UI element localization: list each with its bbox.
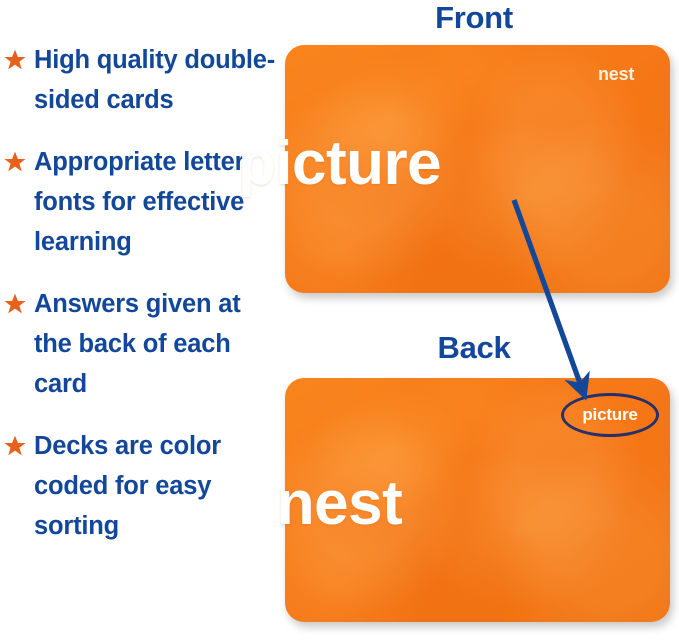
- star-icon: [3, 48, 27, 72]
- star-icon: [3, 292, 27, 316]
- list-item: Answers given at the back of each card: [0, 284, 276, 404]
- back-card-heading: Back: [352, 330, 596, 366]
- star-icon: [3, 434, 27, 458]
- feature-text: High quality double-sided cards: [34, 40, 276, 120]
- list-item: High quality double-sided cards: [0, 40, 276, 120]
- feature-text: Answers given at the back of each card: [34, 284, 276, 404]
- front-card-corner-label: nest: [598, 64, 634, 85]
- back-card-answer-highlight: picture: [561, 393, 659, 437]
- front-card-heading: Front: [352, 0, 596, 36]
- back-card-answer-label: picture: [561, 393, 659, 437]
- front-card-word: picture: [0, 128, 679, 199]
- back-card-word: nest: [0, 468, 679, 539]
